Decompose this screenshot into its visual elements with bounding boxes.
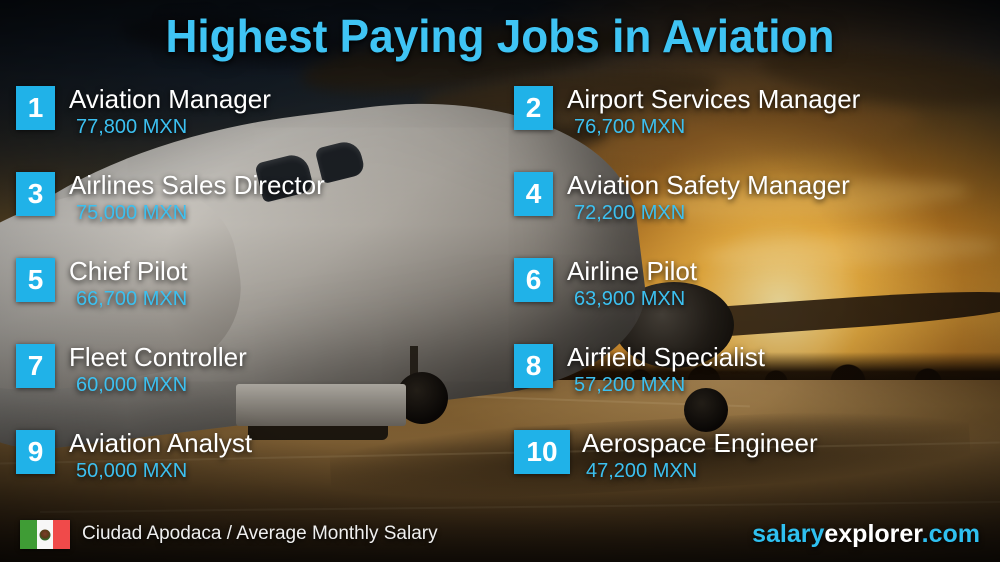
job-title: Aviation Safety Manager bbox=[567, 170, 850, 201]
rank-badge: 6 bbox=[514, 258, 553, 302]
list-item[interactable]: 9 Aviation Analyst 50,000 MXN bbox=[16, 430, 486, 492]
footer: Ciudad Apodaca / Average Monthly Salary … bbox=[0, 505, 1000, 562]
list-item[interactable]: 10 Aerospace Engineer 47,200 MXN bbox=[514, 430, 984, 492]
job-title: Airline Pilot bbox=[567, 256, 697, 287]
logo-text-salary: salary bbox=[752, 520, 824, 548]
job-title: Aviation Manager bbox=[69, 84, 271, 115]
job-title: Aviation Analyst bbox=[69, 428, 252, 459]
rank-badge: 2 bbox=[514, 86, 553, 130]
infographic-card: Highest Paying Jobs in Aviation 1 Aviati… bbox=[0, 0, 1000, 562]
footer-caption: Ciudad Apodaca / Average Monthly Salary bbox=[82, 523, 438, 545]
rank-badge: 7 bbox=[16, 344, 55, 388]
job-salary: 72,200 MXN bbox=[574, 202, 685, 225]
list-item[interactable]: 2 Airport Services Manager 76,700 MXN bbox=[514, 86, 984, 148]
rank-badge: 8 bbox=[514, 344, 553, 388]
salaryexplorer-logo[interactable]: salaryexplorer.com bbox=[752, 520, 980, 549]
job-list: 1 Aviation Manager 77,800 MXN 2 Airport … bbox=[0, 86, 1000, 506]
rank-badge: 10 bbox=[514, 430, 570, 474]
job-salary: 66,700 MXN bbox=[76, 288, 187, 311]
flag-band-green bbox=[20, 520, 37, 549]
job-title: Chief Pilot bbox=[69, 256, 188, 287]
flag-band-red bbox=[53, 520, 70, 549]
list-item[interactable]: 6 Airline Pilot 63,900 MXN bbox=[514, 258, 984, 320]
job-salary: 75,000 MXN bbox=[76, 202, 187, 225]
job-salary: 50,000 MXN bbox=[76, 460, 187, 483]
job-salary: 63,900 MXN bbox=[574, 288, 685, 311]
rank-badge: 3 bbox=[16, 172, 55, 216]
logo-text-dotcom: .com bbox=[922, 520, 980, 548]
job-salary: 60,000 MXN bbox=[76, 374, 187, 397]
job-title: Airlines Sales Director bbox=[69, 170, 325, 201]
job-salary: 47,200 MXN bbox=[586, 460, 697, 483]
content-layer: Highest Paying Jobs in Aviation 1 Aviati… bbox=[0, 0, 1000, 562]
logo-text-explorer: explorer bbox=[824, 520, 921, 548]
job-salary: 76,700 MXN bbox=[574, 116, 685, 139]
rank-badge: 1 bbox=[16, 86, 55, 130]
list-item[interactable]: 3 Airlines Sales Director 75,000 MXN bbox=[16, 172, 486, 234]
rank-badge: 9 bbox=[16, 430, 55, 474]
job-title: Airfield Specialist bbox=[567, 342, 765, 373]
list-item[interactable]: 1 Aviation Manager 77,800 MXN bbox=[16, 86, 486, 148]
job-title: Fleet Controller bbox=[69, 342, 247, 373]
list-item[interactable]: 7 Fleet Controller 60,000 MXN bbox=[16, 344, 486, 406]
job-salary: 77,800 MXN bbox=[76, 116, 187, 139]
job-title: Aerospace Engineer bbox=[582, 428, 818, 459]
list-item[interactable]: 4 Aviation Safety Manager 72,200 MXN bbox=[514, 172, 984, 234]
rank-badge: 4 bbox=[514, 172, 553, 216]
list-item[interactable]: 8 Airfield Specialist 57,200 MXN bbox=[514, 344, 984, 406]
page-title: Highest Paying Jobs in Aviation bbox=[20, 10, 980, 62]
job-salary: 57,200 MXN bbox=[574, 374, 685, 397]
rank-badge: 5 bbox=[16, 258, 55, 302]
flag-band-white bbox=[37, 520, 54, 549]
flag-emblem-icon bbox=[40, 529, 51, 540]
list-item[interactable]: 5 Chief Pilot 66,700 MXN bbox=[16, 258, 486, 320]
mexico-flag-icon bbox=[20, 520, 70, 549]
job-title: Airport Services Manager bbox=[567, 84, 860, 115]
